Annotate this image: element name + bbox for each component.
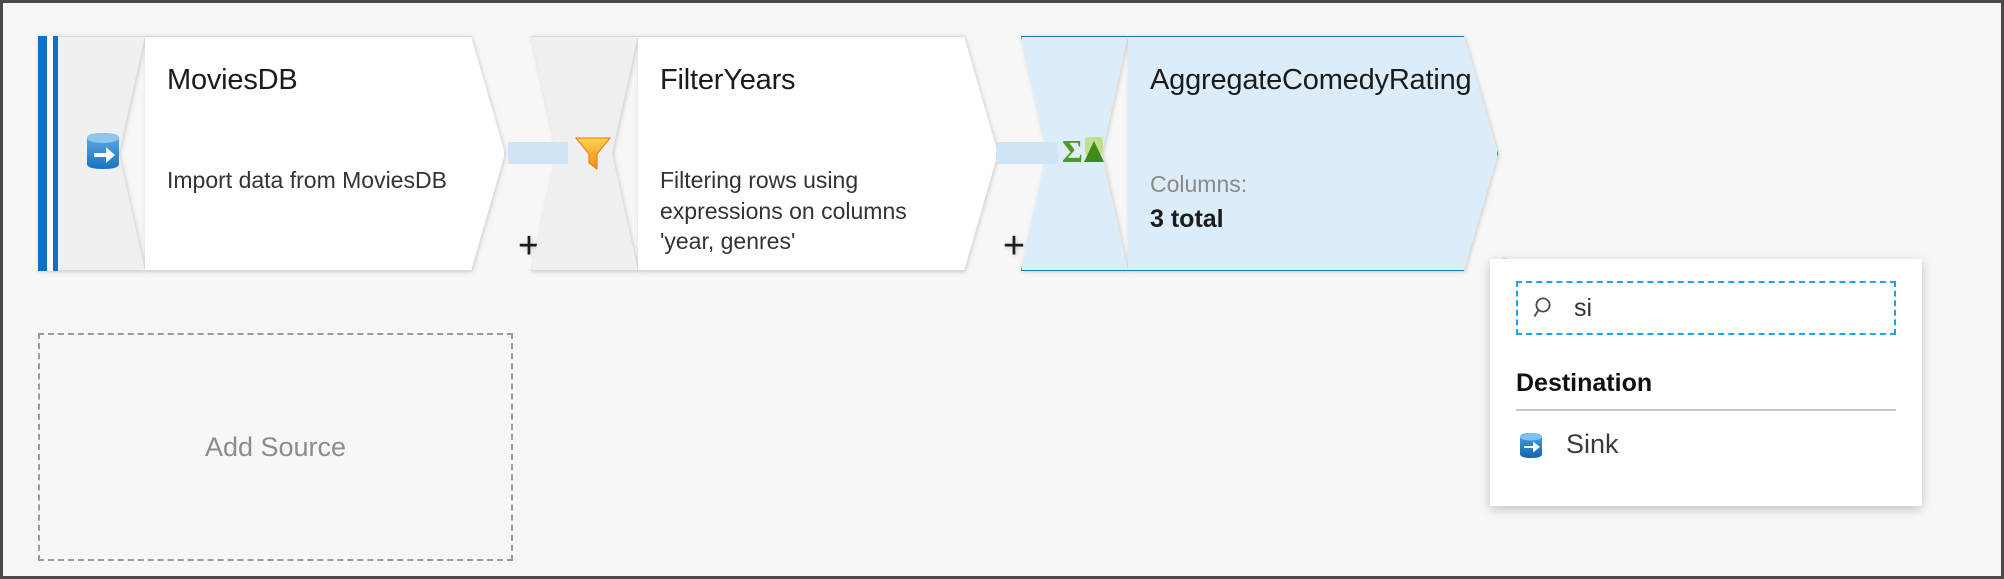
- node-title: FilterYears: [660, 65, 967, 95]
- columns-label: Columns:: [1150, 171, 1247, 198]
- section-header-destination: Destination: [1516, 369, 1896, 398]
- node-description: Import data from MoviesDB: [167, 165, 454, 196]
- node-moviesdb[interactable]: MoviesDB Import data from MoviesDB +: [38, 36, 505, 271]
- node-body-filteryears: FilterYears Filtering rows using express…: [638, 36, 998, 271]
- data-flow-canvas[interactable]: MoviesDB Import data from MoviesDB +: [0, 0, 2004, 579]
- node-body-aggregate: AggregateComedyRating Columns: 3 total: [1128, 36, 1498, 271]
- menu-item-label: Sink: [1566, 429, 1619, 460]
- node-title: AggregateComedyRating: [1150, 65, 1467, 95]
- add-source-placeholder[interactable]: Add Source: [38, 333, 513, 561]
- connector-filter-to-aggregate: [996, 142, 1058, 164]
- node-title: MoviesDB: [167, 65, 474, 95]
- add-transformation-dropdown[interactable]: si Destination Sink: [1490, 259, 1922, 506]
- search-input[interactable]: si: [1516, 281, 1896, 335]
- node-body-moviesdb: MoviesDB Import data from MoviesDB: [145, 36, 505, 271]
- search-input-value: si: [1574, 294, 1592, 323]
- search-icon: [1532, 295, 1558, 321]
- connector-source-to-filter: [508, 142, 568, 164]
- sink-icon: [1516, 430, 1546, 460]
- section-divider: [1516, 409, 1896, 411]
- source-accent-bars: [38, 36, 58, 271]
- svg-text:Σ: Σ: [1062, 133, 1083, 169]
- sigma-aggregate-icon: Σ: [1061, 131, 1107, 176]
- database-import-icon: [81, 129, 125, 178]
- columns-value: 3 total: [1150, 205, 1224, 234]
- add-source-label: Add Source: [205, 432, 346, 463]
- node-description: Filtering rows using expressions on colu…: [660, 165, 947, 257]
- node-aggregatecomedyrating[interactable]: Σ AggregateComedyRating Columns: 3 total…: [1021, 36, 1498, 271]
- funnel-icon: [571, 129, 615, 178]
- node-filteryears[interactable]: FilterYears Filtering rows using express…: [531, 36, 998, 271]
- menu-item-sink[interactable]: Sink: [1516, 429, 1896, 460]
